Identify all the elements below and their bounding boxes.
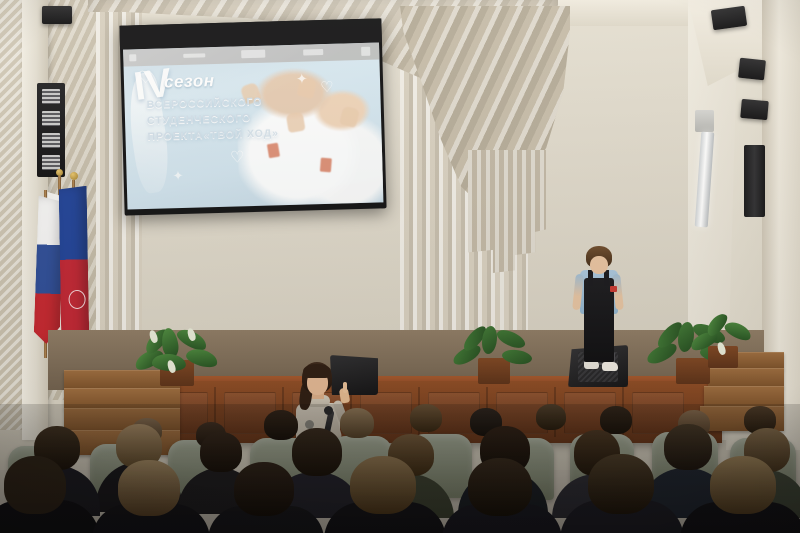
sparkle-icon: ✦ bbox=[172, 168, 183, 184]
audience-head bbox=[340, 408, 374, 438]
flag-emblem bbox=[68, 290, 85, 309]
plant-pot bbox=[478, 358, 510, 384]
audience-head bbox=[410, 404, 442, 432]
raised-hand bbox=[286, 112, 306, 134]
audience-head bbox=[350, 456, 416, 514]
stage-light-cell bbox=[42, 133, 60, 148]
audience-head bbox=[118, 460, 180, 516]
hair-front bbox=[303, 364, 331, 378]
slide-logo-icon bbox=[183, 53, 205, 58]
heart-icon: ♡ bbox=[138, 69, 154, 86]
stage-light-cell bbox=[42, 111, 60, 126]
plant-leaf bbox=[722, 319, 753, 344]
plant-leaf bbox=[482, 326, 497, 354]
projected-slide: IV сезон ВСЕРОССИЙСКОГО СТУДЕНЧЕСКОГО ПР… bbox=[123, 42, 383, 209]
sleeve-patch bbox=[610, 286, 617, 292]
stage-light-bar bbox=[744, 145, 765, 217]
audience-head bbox=[468, 458, 532, 516]
lanyard-badge bbox=[320, 158, 332, 173]
slide-title-line-3: ПРОЕКТА bbox=[147, 129, 203, 143]
slide-title-line-2: СТУДЕНЧЕСКОГО bbox=[147, 112, 251, 127]
flag-finial bbox=[70, 172, 78, 180]
stage-light-cell bbox=[42, 155, 60, 170]
audience-head bbox=[536, 404, 566, 430]
plant-leaf bbox=[495, 325, 528, 352]
projection-screen: IV сезон ВСЕРОССИЙСКОГО СТУДЕНЧЕСКОГО ПР… bbox=[119, 18, 386, 215]
audience-head bbox=[600, 406, 632, 434]
audience-head bbox=[264, 410, 298, 440]
audience bbox=[0, 404, 800, 533]
audience-head bbox=[710, 456, 776, 514]
student-on-stage bbox=[574, 246, 622, 378]
stage-light bbox=[42, 6, 72, 24]
overall-strap bbox=[604, 270, 609, 286]
overall-strap bbox=[588, 270, 593, 286]
assembly-hall-photo: IV сезон ВСЕРОССИЙСКОГО СТУДЕНЧЕСКОГО ПР… bbox=[0, 0, 800, 533]
potted-plant bbox=[132, 326, 224, 388]
stage-light bbox=[37, 83, 65, 177]
potted-plant bbox=[452, 326, 538, 384]
slide-season-word: сезон bbox=[164, 71, 215, 92]
light-housing bbox=[695, 110, 714, 132]
regional-flag bbox=[59, 186, 90, 346]
audience-head bbox=[664, 424, 712, 470]
stage-light-cell bbox=[42, 89, 60, 104]
audience-head bbox=[200, 432, 242, 472]
heart-icon: ♡ bbox=[230, 150, 245, 166]
audience-head bbox=[588, 454, 654, 514]
lanyard-badge bbox=[267, 143, 280, 159]
face bbox=[590, 256, 608, 274]
flag-finial bbox=[56, 169, 63, 176]
shoe bbox=[602, 362, 618, 371]
audience-head bbox=[292, 428, 342, 476]
pointing-finger bbox=[343, 382, 347, 393]
slide-logo-icon bbox=[129, 54, 136, 61]
potted-plant bbox=[690, 316, 754, 368]
sparkle-icon: ✦ bbox=[296, 70, 308, 87]
audience-head bbox=[234, 462, 294, 516]
slide-project-name: «ТВОЙ ХОД» bbox=[203, 127, 279, 141]
audience-head bbox=[4, 456, 66, 514]
stage-light bbox=[738, 58, 766, 81]
raised-hand bbox=[339, 105, 360, 128]
stage-light bbox=[740, 99, 769, 120]
heart-icon: ♡ bbox=[320, 80, 334, 95]
